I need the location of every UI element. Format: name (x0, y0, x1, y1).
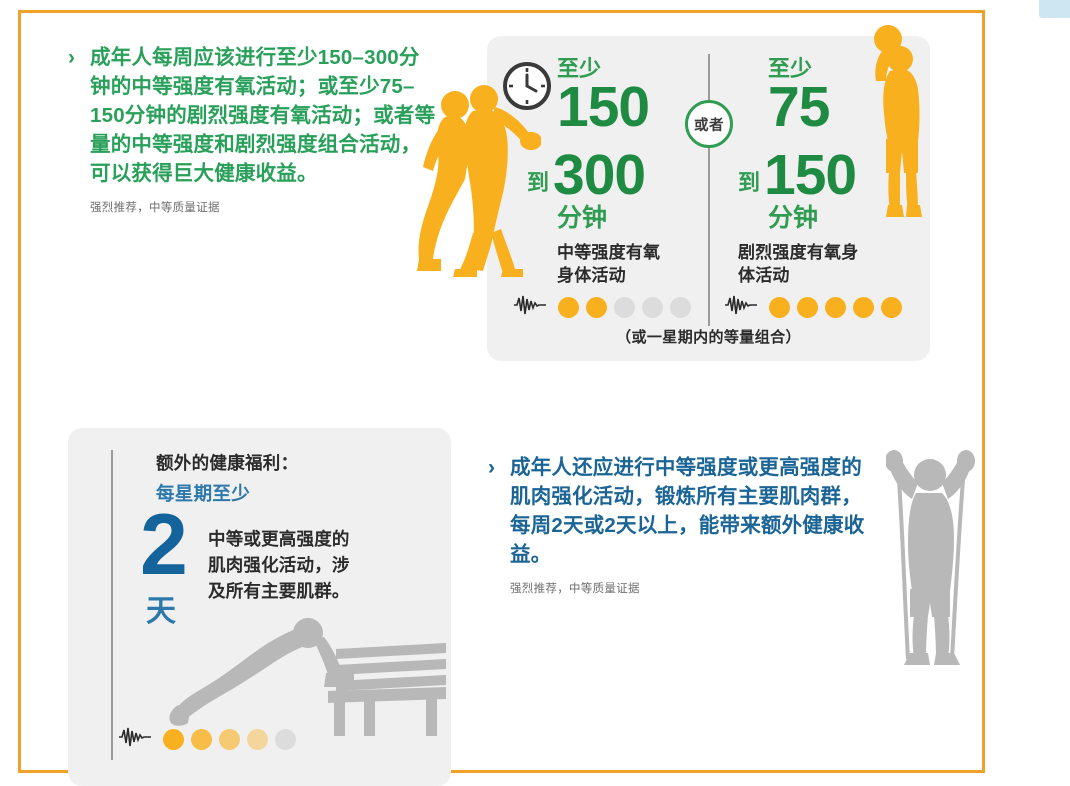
muscle-description: 中等或更高强度的 肌肉强化活动，涉 及所有主要肌群。 (208, 526, 398, 604)
vigorous-label: 剧烈强度有氧身 体活动 (738, 241, 908, 287)
statement-aerobic-text: 成年人每周应该进行至少150–300分钟的中等强度有氧活动；或至少75–150分… (90, 43, 440, 188)
bench-pushup-silhouette (168, 611, 448, 741)
intensity-dot (797, 297, 818, 318)
moderate-unit: 分钟 (557, 206, 607, 231)
intensity-dot (825, 297, 846, 318)
vigorous-unit: 分钟 (768, 206, 818, 231)
intensity-dot (191, 729, 212, 750)
moderate-label-line1: 中等强度有氧 (557, 241, 697, 264)
waveform-icon (118, 726, 152, 753)
bonus-health-title: 额外的健康福利： (156, 450, 298, 475)
intensity-dot (769, 297, 790, 318)
vigorous-intensity-meter (724, 294, 902, 321)
combination-note: （或一星期内的等量组合） (487, 326, 930, 347)
intensity-dot (670, 297, 691, 318)
vigorous-to-word: 到 (738, 172, 760, 202)
intensity-dot (275, 729, 296, 750)
muscle-description-line1: 中等或更高强度的 (208, 526, 398, 552)
intensity-dot (247, 729, 268, 750)
statement-aerobic: › 成年人每周应该进行至少150–300分钟的中等强度有氧活动；或至少75–15… (68, 43, 440, 216)
vigorous-label-line1: 剧烈强度有氧身 (738, 241, 908, 264)
muscle-days-number: 2 (140, 506, 186, 585)
accent-line (111, 450, 113, 760)
muscle-intensity-meter (118, 726, 296, 753)
moderate-label: 中等强度有氧 身体活动 (557, 241, 697, 287)
intensity-dot (586, 297, 607, 318)
statement-muscle-text: 成年人还应进行中等强度或更高强度的肌肉强化活动，锻炼所有主要肌肉群，每周2天或2… (510, 453, 870, 569)
intensity-dot (219, 729, 240, 750)
chevron-right-icon: › (488, 457, 495, 478)
card-muscle-strengthening: 额外的健康福利： 每星期至少 2 天 (68, 428, 451, 786)
intensity-dot (558, 297, 579, 318)
window-chip (1039, 0, 1070, 18)
waveform-icon (724, 294, 758, 321)
or-badge: 或者 (685, 100, 733, 148)
moderate-value-from: 150 (557, 80, 649, 134)
vigorous-value-to: 150 (764, 148, 856, 202)
muscle-description-line2: 肌肉强化活动，涉 (208, 552, 398, 578)
intensity-dot (881, 297, 902, 318)
card-aerobic-recommendation: 或者 至少 150 到 300 分钟 中等强度有氧 身体活动 (487, 36, 930, 361)
infographic-frame: › 成年人每周应该进行至少150–300分钟的中等强度有氧活动；或至少75–15… (18, 10, 985, 773)
vigorous-label-line2: 体活动 (738, 264, 908, 287)
vigorous-value-from: 75 (768, 80, 829, 134)
statement-muscle: › 成年人还应进行中等强度或更高强度的肌肉强化活动，锻炼所有主要肌肉群，每周2天… (488, 453, 870, 597)
moderate-intensity-meter (513, 294, 691, 321)
moderate-value-to: 300 (553, 148, 645, 202)
intensity-dot (853, 297, 874, 318)
muscle-days-unit: 天 (146, 586, 176, 630)
statement-muscle-evidence: 强烈推荐，中等质量证据 (510, 581, 870, 597)
waveform-icon (513, 294, 547, 321)
chevron-right-icon: › (68, 47, 75, 68)
statement-aerobic-evidence: 强烈推荐，中等质量证据 (90, 200, 440, 216)
moderate-to-word: 到 (527, 172, 549, 202)
muscle-description-line3: 及所有主要肌群。 (208, 578, 398, 604)
intensity-dot (163, 729, 184, 750)
intensity-dot (642, 297, 663, 318)
column-divider (708, 54, 710, 326)
moderate-label-line2: 身体活动 (557, 264, 697, 287)
resistance-band-silhouette (886, 445, 996, 680)
intensity-dot (614, 297, 635, 318)
clock-icon (501, 60, 553, 117)
